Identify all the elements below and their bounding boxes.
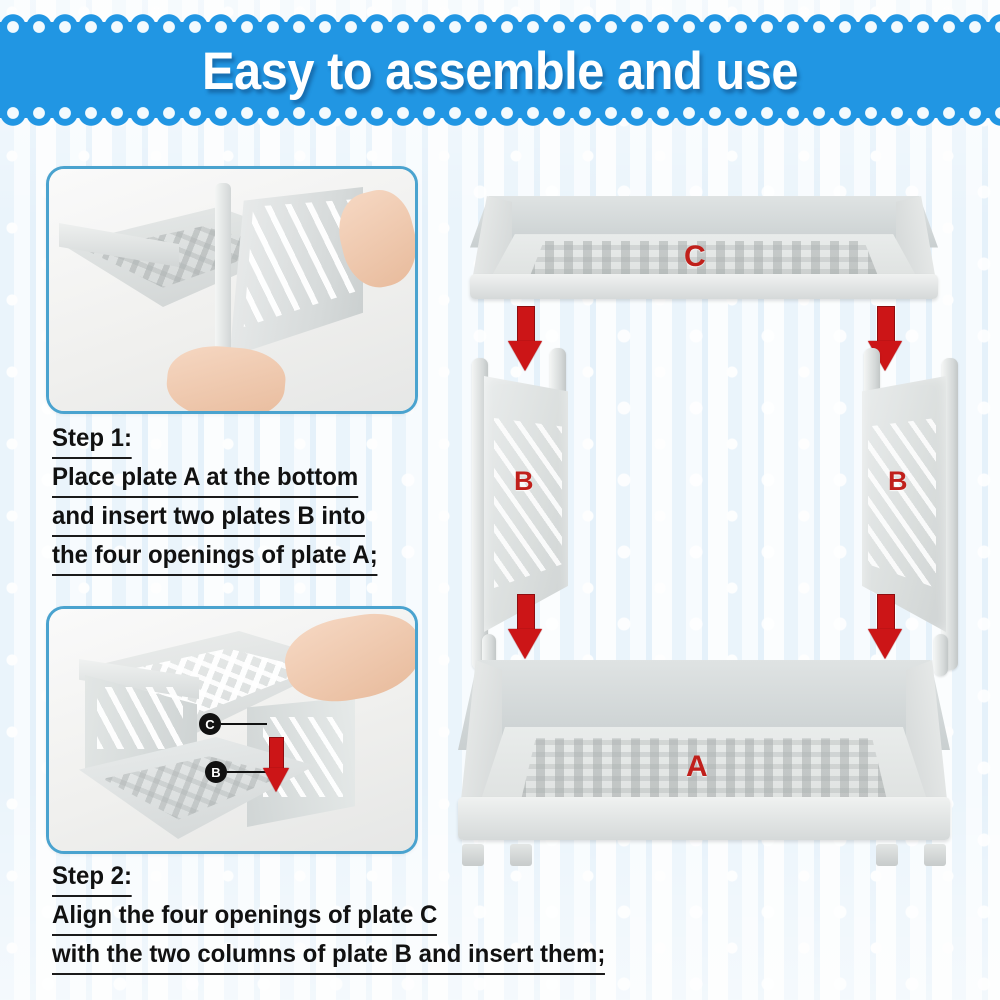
tray-front-rail — [458, 797, 950, 840]
tray-foot — [510, 844, 532, 866]
arrow-shaft — [877, 306, 895, 344]
step-1-text: Step 1: Place plate A at the bottom and … — [52, 420, 452, 576]
panel-vents — [868, 418, 936, 588]
diagram-panel-b-right: B — [846, 348, 958, 676]
step-1-line-1: Place plate A at the bottom — [52, 459, 358, 498]
step-2-heading: Step 2: — [52, 858, 132, 897]
arrow-shaft — [517, 594, 535, 632]
diagram-tray-a: A — [458, 660, 950, 856]
arrow-shaft — [517, 306, 535, 344]
part-label-b-right: B — [888, 466, 908, 497]
infographic-page: Easy to assemble and use Step 1: Place p… — [0, 0, 1000, 1000]
arrow-head — [508, 629, 542, 659]
step-1-photo — [46, 166, 418, 414]
callout-c: C — [199, 713, 267, 735]
tray-foot — [462, 844, 484, 866]
banner-dots-bottom — [0, 100, 1000, 126]
step-1-line-3: the four openings of plate A; — [52, 537, 378, 576]
part-label-b-left: B — [514, 466, 534, 497]
step-2-line-1: Align the four openings of plate C — [52, 897, 437, 936]
banner-title: Easy to assemble and use — [40, 40, 960, 102]
callout-leader-line — [221, 723, 267, 725]
callout-badge-b: B — [205, 761, 227, 783]
callout-badge-c: C — [199, 713, 221, 735]
tray-foot — [924, 844, 946, 866]
arrow-head — [868, 629, 902, 659]
step-2-text: Step 2: Align the four openings of plate… — [52, 858, 672, 975]
tray-front-rail — [470, 274, 938, 299]
arrow-shaft — [877, 594, 895, 632]
red-arrow-icon-3 — [508, 594, 542, 656]
arrow-head — [263, 768, 289, 792]
tray-foot — [876, 844, 898, 866]
part-label-c: C — [684, 240, 706, 274]
step-1-line-2: and insert two plates B into — [52, 498, 365, 537]
header-banner: Easy to assemble and use — [0, 0, 1000, 140]
photo2-left-panel-vents — [97, 687, 183, 749]
panel-vents — [494, 418, 562, 588]
banner-dots-top — [0, 14, 1000, 40]
step-1-heading: Step 1: — [52, 420, 132, 459]
step-2-line-2: with the two columns of plate B and inse… — [52, 936, 605, 975]
photo1-panel-post — [215, 183, 231, 373]
photo2-red-arrow-icon — [263, 737, 289, 793]
red-arrow-icon-4 — [868, 594, 902, 656]
step-2-photo: C B — [46, 606, 418, 854]
arrow-shaft — [269, 737, 284, 772]
part-label-a: A — [686, 750, 708, 784]
diagram-tray-c: C — [470, 196, 938, 308]
